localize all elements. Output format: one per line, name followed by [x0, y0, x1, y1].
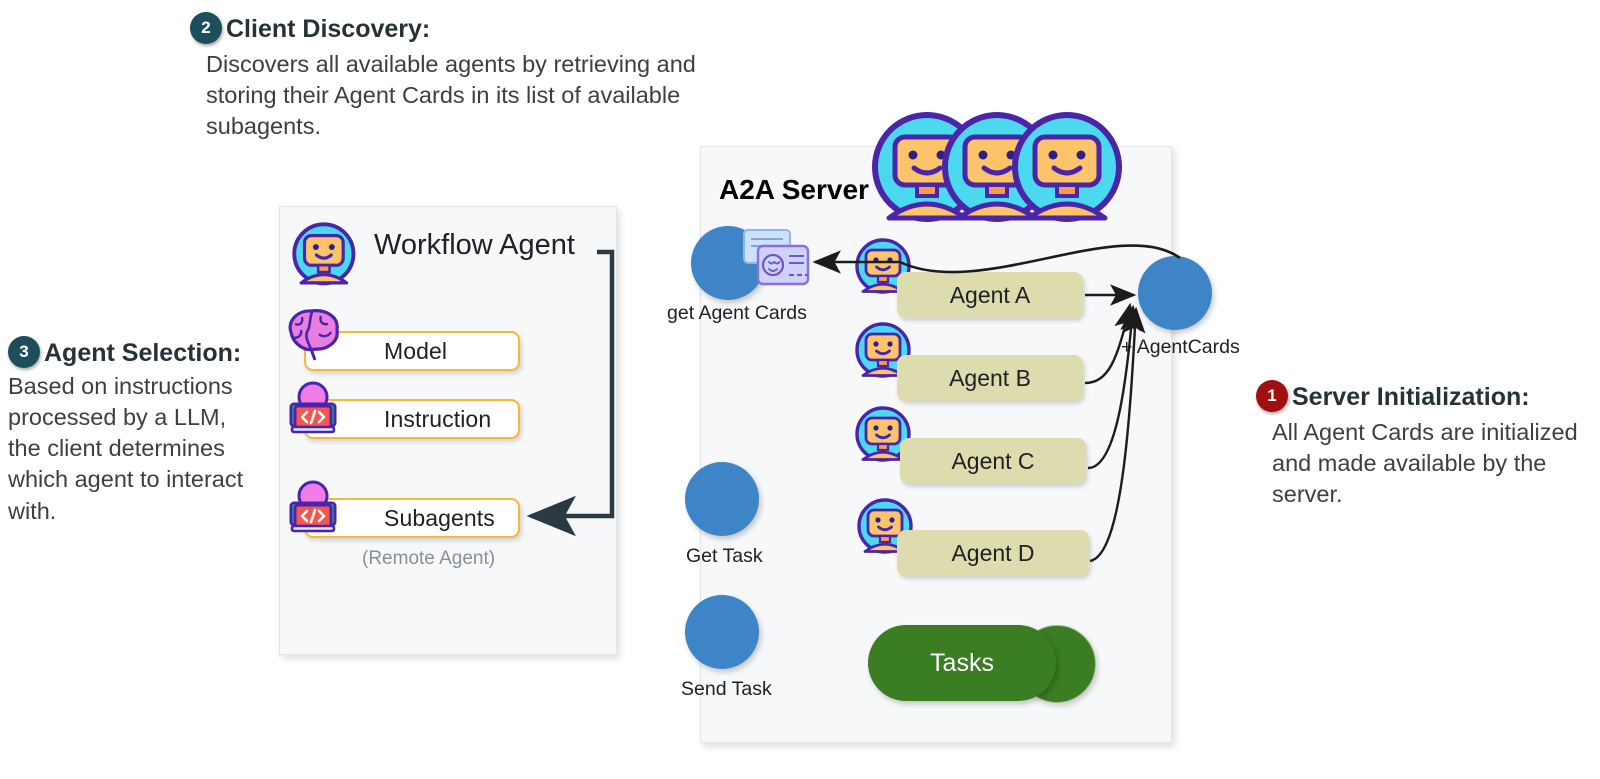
node-label-send-task: Send Task	[681, 678, 772, 701]
robot-trio-icon	[872, 112, 1150, 222]
annotation-server-initialization: 1 Server Initialization: All Agent Cards…	[1256, 380, 1586, 510]
annotation-body-2: Discovers all available agents by retrie…	[206, 49, 735, 143]
code-person-icon-instruction	[283, 380, 343, 441]
annotation-title-1: Server Initialization:	[1292, 380, 1530, 413]
diagram-canvas: 2 Client Discovery: Discovers all availa…	[0, 0, 1600, 779]
annotation-title-2: Client Discovery:	[226, 12, 430, 45]
brain-icon	[281, 304, 345, 369]
code-person-icon-subagents	[283, 479, 343, 540]
tasks-shape[interactable]: Tasks	[868, 625, 1056, 701]
annotation-agent-selection: 3 Agent Selection: Based on instructions…	[8, 336, 258, 527]
step-badge-3: 3	[8, 336, 40, 368]
a2a-server-title: A2A Server	[719, 174, 869, 206]
workflow-footnote: (Remote Agent)	[362, 548, 495, 570]
agent-box-c[interactable]: Agent C	[900, 438, 1086, 484]
agent-label-a: Agent A	[950, 282, 1031, 309]
get-task-circle[interactable]	[685, 462, 759, 536]
node-label-get-task: Get Task	[686, 545, 763, 568]
tasks-label: Tasks	[930, 649, 994, 678]
agent-box-a[interactable]: Agent A	[897, 272, 1083, 318]
agent-label-b: Agent B	[949, 365, 1031, 392]
node-label-get-agent-cards: get Agent Cards	[667, 302, 807, 325]
agent-cards-icon	[742, 228, 810, 295]
agent-box-d[interactable]: Agent D	[897, 530, 1089, 576]
server-header-robots	[872, 112, 1150, 227]
agent-label-d: Agent D	[951, 540, 1034, 567]
robot-avatar-icon	[292, 222, 358, 293]
step-badge-2: 2	[190, 12, 222, 44]
workflow-agent-title: Workflow Agent	[374, 229, 575, 262]
send-task-circle[interactable]	[685, 595, 759, 669]
annotation-body-1: All Agent Cards are initialized and made…	[1272, 417, 1586, 511]
agent-label-c: Agent C	[951, 448, 1034, 475]
agent-box-b[interactable]: Agent B	[897, 355, 1083, 401]
agentcards-registry-circle[interactable]	[1138, 256, 1212, 330]
step-badge-1: 1	[1256, 380, 1288, 412]
registry-label: + AgentCards	[1121, 336, 1240, 359]
annotation-client-discovery: 2 Client Discovery: Discovers all availa…	[190, 12, 735, 142]
annotation-body-3: Based on instructions processed by a LLM…	[8, 371, 258, 527]
annotation-title-3: Agent Selection:	[44, 336, 241, 369]
